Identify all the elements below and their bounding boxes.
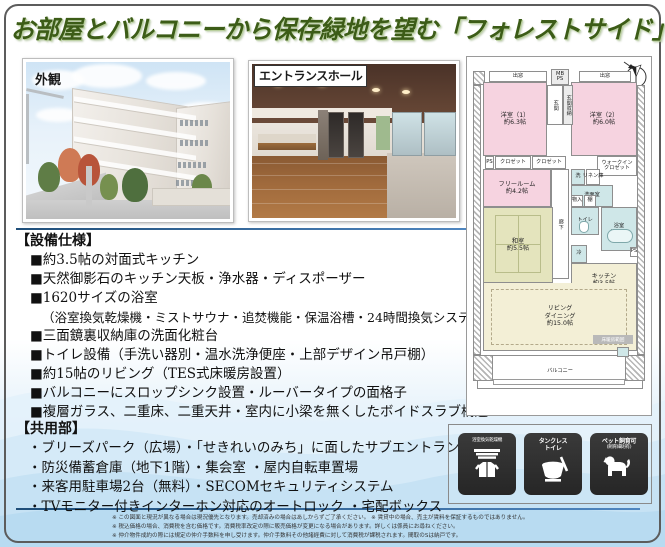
badge-bath-dryer-label: 浴室換気乾燥機 (472, 438, 502, 444)
ps-label: PS (486, 159, 492, 167)
divider-top (16, 228, 468, 230)
spec-line: （浴室換気乾燥機・ミストサウナ・追焚機能・保温浴槽・24時間換気システム） (16, 308, 468, 327)
wall-left (473, 85, 481, 355)
room-yoshitsu-2-name: 洋室（2） (590, 112, 619, 120)
hallway: 廊下 (551, 169, 569, 279)
floor-plan-canvas: 出窓 出窓 MB PS 洋室（1） 約6.3帖 洋室（2） 約6.0帖 玄関 (467, 57, 651, 415)
equipment-spec-section: 【設備仕様】 ■約3.5帖の対面式キッチン ■天然御影石のキッチン天板・浄水器・… (16, 232, 468, 422)
disclaimer-section: ※ この図面と現況が異なる場合は現況優先となります。売却済みの場合はあしからずご… (112, 514, 642, 541)
floor-plank (252, 189, 402, 190)
toilet-fixture-icon (579, 221, 589, 233)
ceiling-light (372, 88, 380, 92)
ps-shaft-right: PS (630, 247, 638, 257)
photo-entrance-image (252, 64, 456, 218)
common-line: ・ブリーズパーク（広場）・「せきれいのみち」に面したサブエントランス (16, 439, 468, 459)
spec-heading: 【設備仕様】 (16, 232, 468, 251)
bench (258, 142, 316, 150)
hallway-label: 廊下 (556, 219, 564, 229)
floor-plank (252, 163, 402, 164)
genkan-entrance: 玄関 (547, 85, 563, 125)
page-title: お部屋とバルコニーから保存緑地を望む「フォレストサイド」棟 (0, 10, 665, 46)
tatami-divider (495, 244, 541, 245)
cloud (72, 64, 142, 88)
photo-exterior-caption: 外観 (35, 69, 61, 88)
sign-post (86, 166, 92, 206)
window-row (180, 140, 208, 146)
balcony-partition-right (625, 355, 645, 381)
common-line: ・来客用駐車場2台（無料）・SECOMセキュリティシステム (16, 478, 468, 498)
shelf-closet: 棚 (584, 195, 596, 207)
bay-window-right-label: 出窓 (600, 73, 610, 81)
badge-pet-allowed-label: ペット飼育可 (602, 438, 636, 445)
glass-door (392, 112, 422, 156)
common-line: ・防災備蓄倉庫（地下1階）・集会室 ・屋内自転車置場 (16, 459, 468, 479)
window-row (178, 162, 206, 168)
bathtub-icon (607, 229, 633, 243)
elevator-door (348, 112, 364, 158)
tree (100, 174, 118, 200)
tree (122, 168, 148, 202)
bench-back (258, 134, 316, 143)
room-yoshitsu-2-size: 約6.0帖 (593, 119, 615, 127)
walk-in-closet-label: ウォークイン クロゼット (601, 161, 632, 172)
fridge-space: 冷 (571, 245, 587, 263)
storage-label: 物入 (572, 197, 582, 205)
room-yoshitsu-1-size: 約6.3帖 (504, 119, 526, 127)
stone-floor (387, 153, 456, 218)
disclaimer-line: ※ 税込価格の場合、消費税を含む価格です。消費税率改定の際に販売価格が変更になる… (112, 523, 642, 532)
room-yoshitsu-2: 洋室（2） 約6.0帖 (571, 82, 637, 156)
bay-window-right: 出窓 (579, 71, 631, 82)
page-title-text: お部屋とバルコニーから保存緑地を望む「フォレストサイド」棟 (11, 10, 665, 46)
spec-line: ■天然御影石のキッチン天板・浄水器・ディスポーザー (16, 270, 468, 289)
photo-entrance-hall: エントランスホール (248, 60, 460, 222)
spec-line: ■トイレ設備（手洗い器別・温水洗浄便座・上部デザイン吊戸棚） (16, 346, 468, 365)
room-yoshitsu-1: 洋室（1） 約6.3帖 (483, 82, 547, 156)
room-yoshitsu-1-name: 洋室（1） (501, 112, 530, 120)
fridge-label: 冷 (576, 250, 581, 258)
floor-plank (252, 203, 402, 204)
genkan-storage-label: 玄関収納 (564, 95, 572, 116)
common-facilities-section: 【共用部】 ・ブリーズパーク（広場）・「せきれいのみち」に面したサブエントランス… (16, 420, 468, 517)
spec-line: ■バルコニーにスロップシンク設置・ルーバータイプの面格子 (16, 384, 468, 403)
floor-heating-label-badge: 床暖房範囲 (593, 335, 633, 344)
pet-dog-icon (599, 454, 639, 480)
spec-line: ■約3.5帖の対面式キッチン (16, 251, 468, 270)
storage-closet: 物入 (571, 195, 583, 207)
spec-line: ■1620サイズの浴室 (16, 289, 468, 308)
badge-bath-dryer: 浴室換気乾燥機 (458, 433, 516, 495)
floor-heating-label: 床暖房範囲 (602, 337, 625, 343)
floor-plan: 出窓 出窓 MB PS 洋室（1） 約6.3帖 洋室（2） 約6.0帖 玄関 (466, 56, 652, 416)
bay-window-left-label: 出窓 (513, 73, 523, 81)
room-free: フリールーム 約4.2帖 (483, 169, 551, 207)
cloud (146, 72, 206, 90)
common-heading: 【共用部】 (16, 420, 468, 439)
genkan-label: 玄関 (551, 100, 559, 110)
floor-plank (252, 175, 402, 176)
bay-window-left: 出窓 (489, 71, 547, 82)
disclaimer-line: ※ 仲介物件成約の際には規定の仲介手数料を申し受けます。仲介手数料その他諸経費に… (112, 532, 642, 541)
badge-pet-allowed-sub: (飼育細則有) (607, 445, 631, 451)
washer-label: 洗 (575, 173, 580, 181)
balcony-rail (493, 379, 625, 385)
feature-badge-group: 浴室換気乾燥機 タンクレス トイレ ペット飼育可 (飼育細則有) (448, 424, 652, 504)
linen-closet: リネン庫 (586, 169, 600, 185)
closet-2: クロゼット (532, 156, 566, 169)
floorplan-flyer-page: お部屋とバルコニーから保存緑地を望む「フォレストサイド」棟 (0, 0, 665, 547)
wall-right (637, 85, 645, 355)
photo-exterior: 外観 (22, 58, 234, 223)
closet-1-label: クロゼット (500, 159, 526, 167)
mb-ps-shaft: MB PS (551, 69, 569, 85)
window-row (180, 120, 208, 126)
genkan-storage: 玄関収納 (563, 85, 573, 125)
ps-shaft-left: PS (485, 156, 494, 169)
room-free-name: フリールーム (499, 181, 536, 189)
closet-2-label: クロゼット (536, 159, 562, 167)
badge-pet-allowed: ペット飼育可 (飼育細則有) (590, 433, 648, 495)
ps-right-label: PS (631, 248, 637, 256)
street-lamp-pole (26, 94, 29, 164)
tree (38, 162, 60, 192)
elevator-door (328, 112, 344, 158)
glass-door (424, 112, 456, 156)
disclaimer-line: ※ この図面と現況が異なる場合は現況優先となります。売却済みの場合はあしからずご… (112, 514, 642, 523)
linen-closet-label: リネン庫 (583, 173, 604, 181)
ceiling-light (402, 90, 410, 94)
badge-tankless-toilet-label: タンクレス トイレ (539, 438, 568, 452)
bath-dryer-icon (467, 447, 507, 481)
balcony-partition-left (473, 355, 493, 381)
spec-line: ■三面鏡裏収納庫の洗面化粧台 (16, 327, 468, 346)
shelf-label: 棚 (587, 197, 592, 205)
elevator-pillar (318, 110, 328, 160)
slop-sink-icon (617, 347, 629, 357)
balcony-label: バルコニー (547, 368, 573, 376)
toilet-icon (533, 455, 573, 485)
photo-entrance-caption: エントランスホール (254, 65, 367, 87)
kitchen-name: キッチン (592, 273, 617, 281)
exterior-greenery (376, 116, 390, 150)
spec-line: ■約15帖のリビング（TES式床暖房設置） (16, 365, 468, 384)
closet-1: クロゼット (495, 156, 531, 169)
mb-ps-label: MB PS (556, 72, 564, 82)
entrance-wall (152, 188, 230, 206)
badge-tankless-toilet: タンクレス トイレ (524, 433, 582, 495)
room-free-size: 約4.2帖 (506, 188, 528, 196)
